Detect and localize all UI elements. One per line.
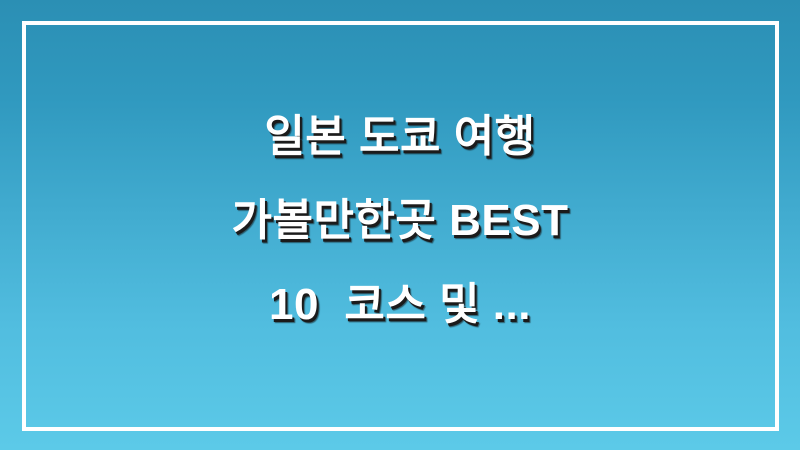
title-line-2: 가볼만한곳 BEST (0, 179, 800, 263)
title-block: 일본 도쿄 여행 가볼만한곳 BEST 10 코스 및 ... (0, 0, 800, 450)
title-line-3: 10 코스 및 ... (0, 263, 800, 347)
thumbnail-card: 일본 도쿄 여행 가볼만한곳 BEST 10 코스 및 ... (0, 0, 800, 450)
title-line-1: 일본 도쿄 여행 (0, 95, 800, 179)
